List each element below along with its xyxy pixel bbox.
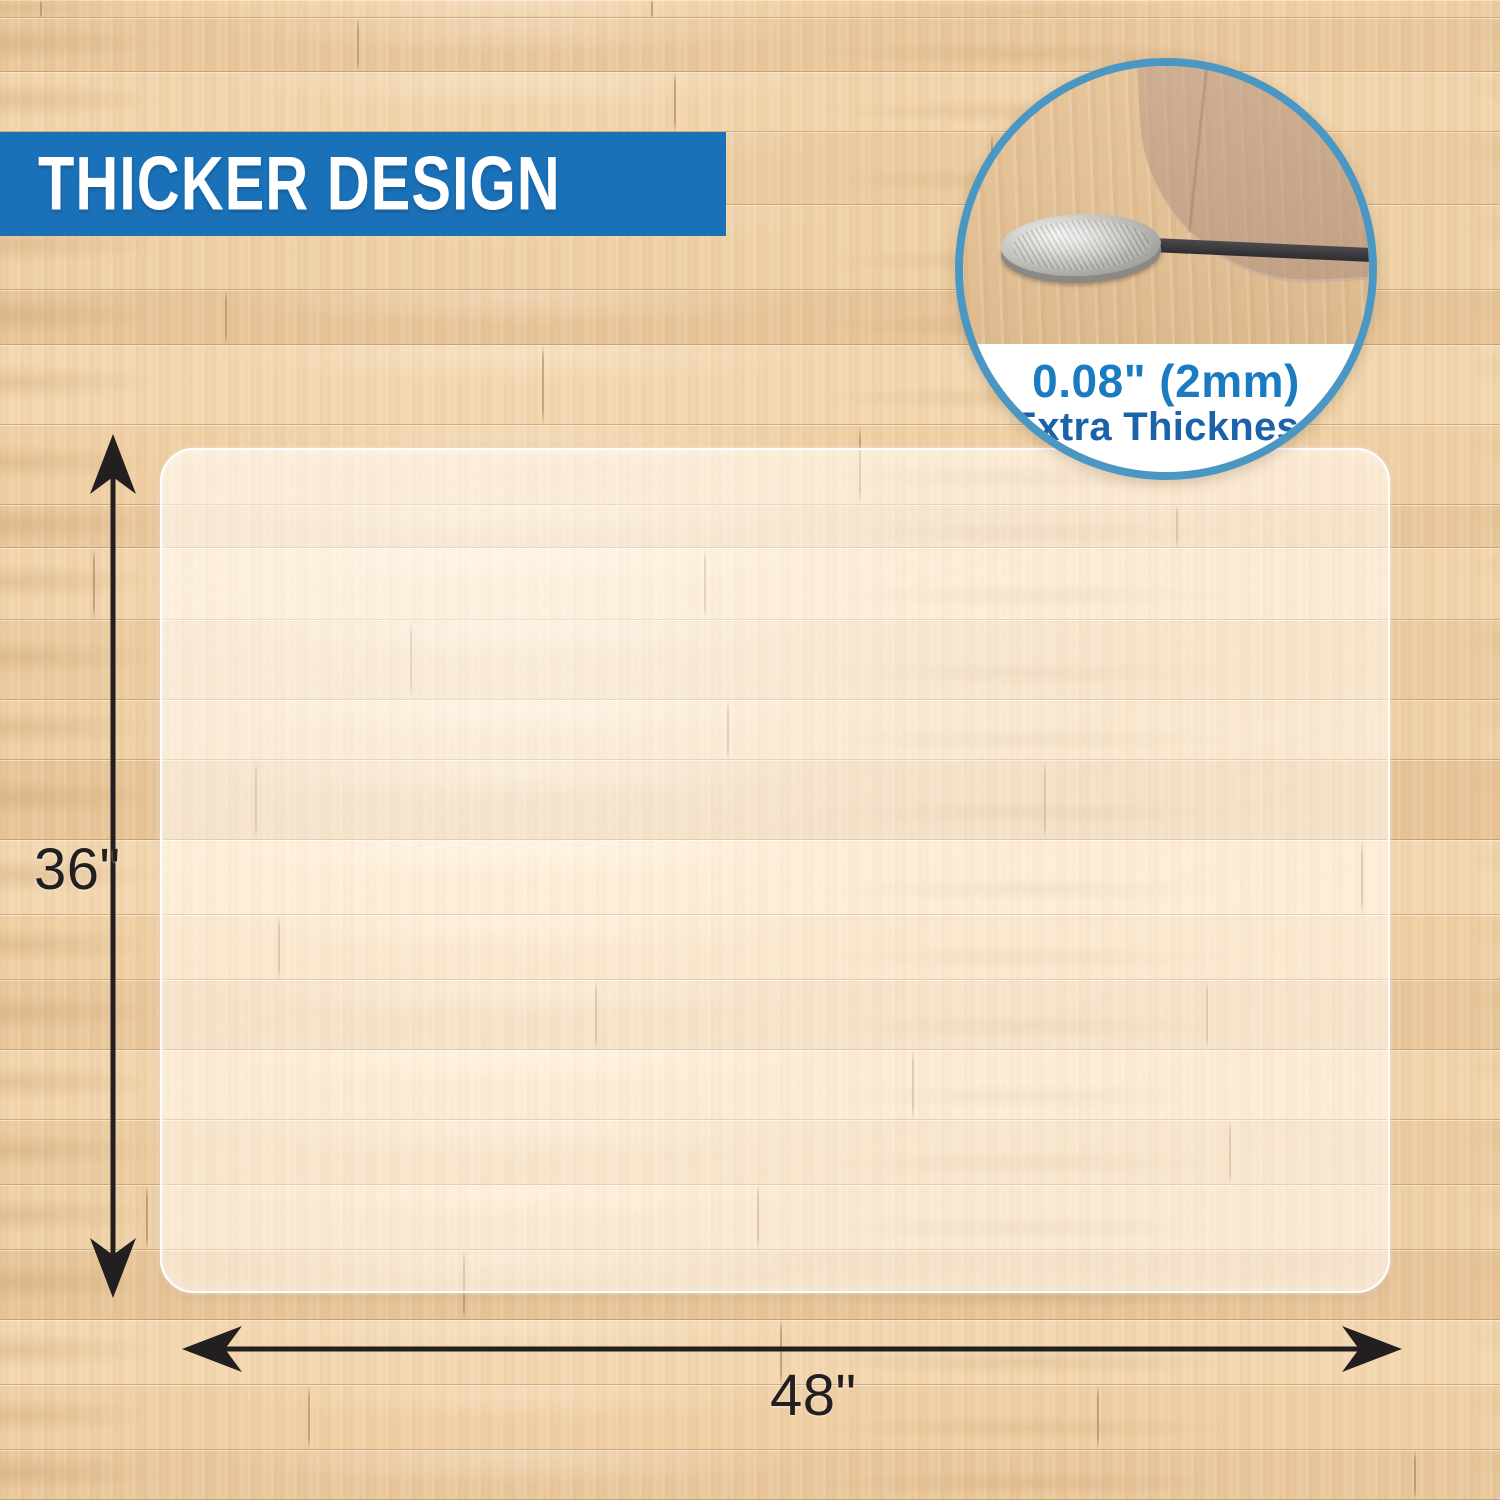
thickness-badge-caption: 0.08" (2mm) Extra Thickness	[963, 344, 1369, 472]
product-image-canvas: 36" 48" THICKER DESIGN 0.08" (2mm) Extra…	[0, 0, 1500, 1500]
floor-plank	[0, 18, 1500, 72]
floor-plank-seam	[674, 72, 676, 132]
thickness-value-text: 0.08" (2mm)	[1032, 357, 1300, 406]
floor-plank-seam	[40, 0, 42, 18]
floor-plank-seam	[225, 290, 227, 345]
headline-banner-text: THICKER DESIGN	[38, 141, 561, 228]
thickness-badge: 0.08" (2mm) Extra Thickness	[955, 58, 1377, 480]
thickness-badge-photo	[963, 66, 1369, 344]
width-dimension-label: 48"	[770, 1362, 857, 1429]
thickness-description-text: Extra Thickness	[1010, 405, 1321, 449]
coin-face-detail	[1012, 218, 1150, 273]
floor-plank	[0, 1450, 1500, 1500]
floor-plank-seam	[146, 1185, 148, 1250]
headline-banner: THICKER DESIGN	[0, 132, 726, 236]
floor-plank	[0, 0, 1500, 18]
floor-plank-seam	[357, 18, 359, 72]
height-dimension-label: 36"	[34, 836, 121, 903]
floor-plank-seam	[651, 0, 653, 18]
floor-plank-seam	[1097, 1385, 1099, 1450]
floor-plank	[0, 1385, 1500, 1450]
chair-mat	[160, 448, 1390, 1293]
floor-plank-seam	[308, 1385, 310, 1450]
floor-plank-seam	[1414, 1450, 1416, 1500]
floor-plank-seam	[542, 345, 544, 425]
